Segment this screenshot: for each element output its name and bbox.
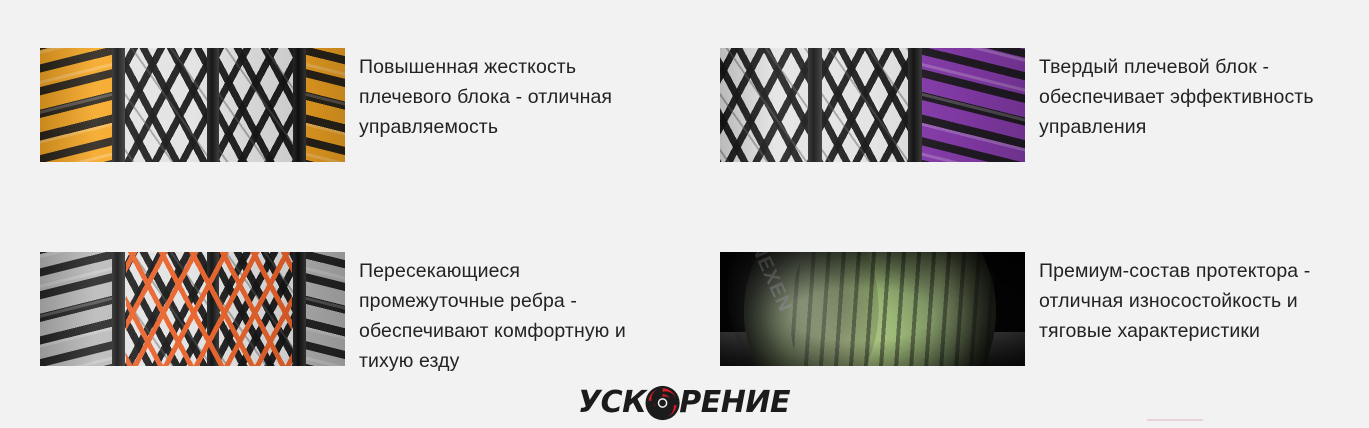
groove-2 bbox=[207, 48, 219, 162]
shoulder-block-right bbox=[306, 252, 345, 366]
shoulder-block-purple bbox=[922, 48, 1025, 162]
shoulder-block-left bbox=[40, 48, 112, 162]
tire-tread-orange-shoulder-blocks-image bbox=[40, 48, 345, 162]
groove-1 bbox=[112, 48, 125, 162]
groove-1 bbox=[808, 48, 822, 162]
bottom-divider-fragment bbox=[1147, 419, 1203, 421]
promo-feature-grid: Повышенная жесткость плечевого блока - о… bbox=[0, 0, 1369, 428]
tread-artwork bbox=[720, 48, 1025, 162]
feature-caption: Повышенная жесткость плечевого блока - о… bbox=[359, 48, 659, 142]
groove-3 bbox=[293, 252, 306, 366]
shoulder-block-right bbox=[306, 48, 345, 162]
feature-caption: Премиум-состав протектора - отличная изн… bbox=[1039, 252, 1339, 346]
groove-2 bbox=[908, 48, 922, 162]
feature-item-interlocking-ribs: Пересекающиеся промежуточные ребра - обе… bbox=[40, 252, 659, 376]
logo-text-before: УСК bbox=[578, 388, 646, 418]
tire-photo: NEXEN bbox=[720, 252, 1025, 366]
tire-contact-patch-photo-image: NEXEN bbox=[720, 252, 1025, 366]
logo-text-after: РЕНИЕ bbox=[679, 388, 790, 418]
photo-vignette bbox=[720, 252, 1025, 366]
center-rib-right bbox=[219, 48, 293, 162]
center-rib-right bbox=[822, 48, 908, 162]
zigzag-rib-highlight bbox=[126, 252, 292, 366]
groove-3 bbox=[293, 48, 306, 162]
shoulder-block-left bbox=[40, 252, 112, 366]
feature-caption: Пересекающиеся промежуточные ребра - обе… bbox=[359, 252, 659, 376]
tread-artwork bbox=[40, 252, 345, 366]
feature-item-shoulder-stiffness: Повышенная жесткость плечевого блока - о… bbox=[40, 48, 659, 162]
center-rib-left bbox=[720, 48, 808, 162]
feature-item-premium-tread-compound: NEXEN Премиум-состав протектора - отличн… bbox=[720, 252, 1339, 366]
tread-artwork bbox=[40, 48, 345, 162]
uskorenie-logo[interactable]: УСК РЕНИЕ bbox=[578, 383, 790, 423]
feature-item-firm-shoulder-block: Твердый плечевой блок - обеспечивает эфф… bbox=[720, 48, 1339, 162]
tire-tread-purple-shoulder-block-image bbox=[720, 48, 1025, 162]
swirl-circle-icon bbox=[644, 384, 681, 422]
groove-1 bbox=[112, 252, 125, 366]
feature-caption: Твердый плечевой блок - обеспечивает эфф… bbox=[1039, 48, 1339, 142]
center-rib-left bbox=[125, 48, 207, 162]
tire-tread-orange-zigzag-ribs-image bbox=[40, 252, 345, 366]
